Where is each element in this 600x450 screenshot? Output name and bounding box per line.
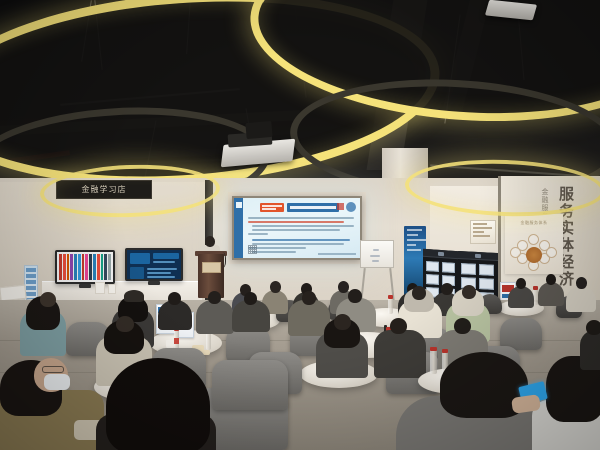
microphone-stand-icon — [217, 252, 226, 268]
monitor-stand — [79, 284, 91, 288]
slide-title-block — [287, 203, 339, 212]
bottle-label — [174, 338, 179, 344]
ceiling-speaker-icon — [245, 121, 272, 139]
wall-poster-title: 金融服务体系 — [505, 220, 563, 226]
slide-left-bar — [234, 198, 243, 258]
monitor-bar-chart — [59, 254, 111, 280]
wall-poster: 金融服务体系 — [505, 214, 563, 274]
bottle-cap — [388, 295, 393, 299]
slide-flag-icon — [337, 203, 344, 210]
water-bottle — [388, 297, 393, 314]
slide-logo-icon — [346, 202, 356, 212]
monitor-stand — [148, 281, 160, 285]
presenter-head — [205, 236, 215, 247]
bottle-cap — [430, 347, 437, 351]
bottle-cap — [442, 349, 448, 353]
monitor-dashboard — [125, 248, 183, 281]
eyeglasses-icon — [42, 366, 64, 373]
projection-screen — [232, 196, 362, 260]
slide-surface — [234, 198, 360, 258]
rack-header — [458, 251, 498, 261]
water-bottle — [430, 350, 437, 374]
poster-center-node — [526, 247, 542, 263]
rack-header — [423, 249, 459, 260]
slide-section-tag — [260, 203, 284, 212]
wall-poster-small — [470, 220, 496, 244]
bottle-cap — [533, 286, 538, 290]
armchair — [212, 360, 288, 410]
monitor-color-bars — [55, 250, 115, 284]
whiteboard-flipchart — [360, 240, 394, 268]
counter-sign — [95, 282, 105, 294]
counter-sign — [108, 284, 116, 294]
slide-qr-code-icon — [248, 245, 257, 254]
face-mask — [44, 374, 70, 390]
slide-left-marker — [236, 202, 242, 208]
lecture-room-photo: 服务实体经济 金融服务 金融服务体系 金融学习店 — [0, 0, 600, 450]
slide-footer-line — [318, 253, 356, 255]
